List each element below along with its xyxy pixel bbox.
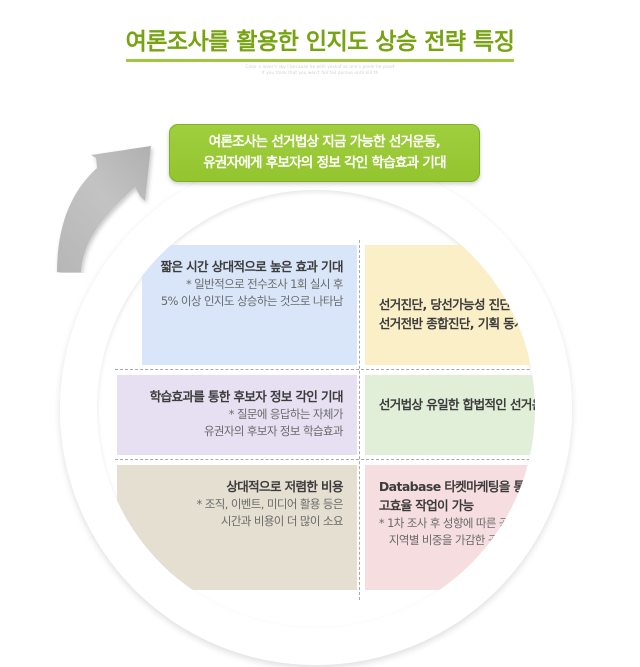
cell-heading-line-1: 선거진단, 당선가능성 진단 등 [379,295,535,314]
banner-line-1: 여론조사는 선거법상 지금 가능한 선거운동, [203,132,446,153]
cell-body-line-2: 5% 이상 인지도 상승하는 것으로 나타남 [156,293,343,310]
divider-horizontal-2 [115,459,535,460]
cell-body-line-2: 시간과 비용이 더 많이 소요 [131,513,343,530]
cell-heading: 상대적으로 저렴한 비용 [131,477,343,496]
cell-heading-line-2: 고효율 작업이 가능 [379,496,535,515]
cell-body-line-1: * 일반적으로 전수조사 1회 실시 후 [156,276,343,293]
cell-short-time-high-effect[interactable]: 짧은 시간 상대적으로 높은 효과 기대 * 일반적으로 전수조사 1회 실시 … [142,245,357,365]
cells-grid: 짧은 시간 상대적으로 높은 효과 기대 * 일반적으로 전수조사 1회 실시 … [97,190,535,628]
cell-body-line-1: * 조직, 이벤트, 미디어 활용 등은 [131,496,343,513]
cell-heading-line-1: 선거법상 유일한 합법적인 선거운동 [379,395,535,414]
divider-vertical [359,240,360,600]
banner-line-2: 유권자에게 후보자의 정보 각인 학습효과 기대 [203,153,446,174]
cell-election-diagnosis[interactable]: 선거진단, 당선가능성 진단 등 선거전반 종합진단, 기획 동시 달성 가능 [365,245,535,365]
cell-relatively-low-cost[interactable]: 상대적으로 저렴한 비용 * 조직, 이벤트, 미디어 활용 등은 시간과 비용… [117,465,357,590]
subtitle-line-2: If you think that you won't fail'fail pu… [0,70,640,76]
circular-diagram: 짧은 시간 상대적으로 높은 효과 기대 * 일반적으로 전수조사 1회 실시 … [60,153,572,665]
cell-only-legal-campaign[interactable]: 선거법상 유일한 합법적인 선거운동 [365,375,535,455]
cell-heading: 학습효과를 통한 후보자 정보 각인 기대 [131,387,343,406]
banner-text: 여론조사는 선거법상 지금 가능한 선거운동, 유권자에게 후보자의 정보 각인… [203,132,446,174]
cell-heading-line-1: Database 타켓마케팅을 통한 [379,477,535,496]
cell-body-line-1: * 질문에 응답하는 자체가 [131,406,343,423]
divider-horizontal-1 [115,369,535,370]
cell-body-line-2: 유권자의 후보자 정보 학습효과 [131,423,343,440]
cell-heading: 짧은 시간 상대적으로 높은 효과 기대 [156,257,343,276]
page-title: 여론조사를 활용한 인지도 상승 전략 특징 [0,22,640,62]
cell-body-line-1: * 1차 조사 후 성향에 따른 공략이나, [379,515,535,532]
cells-clip-region: 짧은 시간 상대적으로 높은 효과 기대 * 일반적으로 전수조사 1회 실시 … [97,190,535,628]
cell-heading-line-2: 선거전반 종합진단, 기획 동시 달성 가능 [379,314,535,333]
cell-learning-effect-candidate-info[interactable]: 학습효과를 통한 후보자 정보 각인 기대 * 질문에 응답하는 자체가 유권자… [117,375,357,455]
cell-database-target-marketing[interactable]: Database 타켓마케팅을 통한 고효율 작업이 가능 * 1차 조사 후 … [365,465,535,590]
page-title-text: 여론조사를 활용한 인지도 상승 전략 특징 [126,22,515,62]
cell-body-line-2: 지역별 비중을 가감한 공략 가능 [379,532,535,549]
main-message-banner[interactable]: 여론조사는 선거법상 지금 가능한 선거운동, 유권자에게 후보자의 정보 각인… [169,124,480,182]
page-header: 여론조사를 활용한 인지도 상승 전략 특징 Color a lover's s… [0,0,640,100]
page-subtitle: Color a lover's sky I because he with yo… [0,64,640,76]
